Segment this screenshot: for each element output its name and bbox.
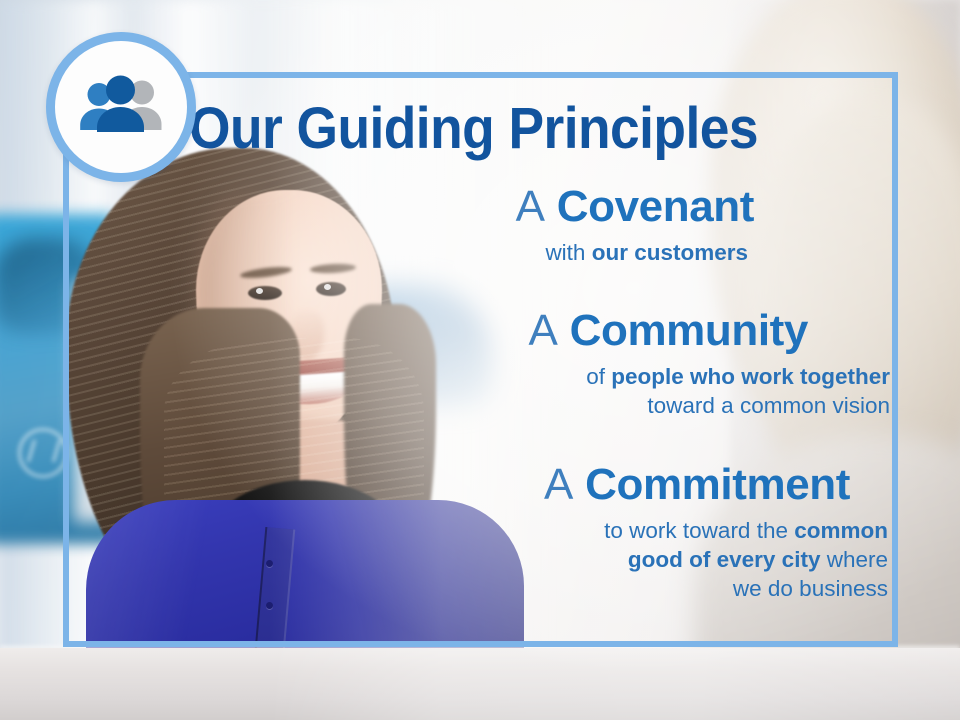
principle-keyword: Covenant (557, 182, 754, 231)
group-of-people-icon (73, 74, 169, 140)
principle-covenant: A Covenant with our customers (63, 184, 898, 268)
principle-community: A Community of people who work togethert… (63, 308, 898, 421)
guiding-principles-banner: FLOW FLOW AUTOMOTIVE Our Guiding Princip… (0, 0, 960, 720)
principle-keyword: Commitment (585, 460, 850, 509)
principle-lead-word: A (528, 306, 569, 355)
principle-subtext: to work toward the commongood of every c… (63, 517, 898, 603)
principle-lead-word: A (516, 182, 557, 231)
principle-subtext: of people who work togethertoward a comm… (63, 363, 898, 421)
page-title: Our Guiding Principles (96, 100, 851, 158)
principle-heading: A Commitment (63, 462, 898, 508)
principle-subtext: with our customers (63, 239, 898, 268)
group-of-people-icon-badge (46, 32, 196, 182)
principle-heading: A Covenant (63, 184, 898, 230)
principle-keyword: Community (570, 306, 808, 355)
principle-heading: A Community (63, 308, 898, 354)
content-area: Our Guiding Principles A Covenant with o… (63, 72, 898, 647)
principle-commitment: A Commitment to work toward the commongo… (63, 462, 898, 604)
desk-surface (0, 648, 960, 720)
principle-lead-word: A (544, 460, 585, 509)
